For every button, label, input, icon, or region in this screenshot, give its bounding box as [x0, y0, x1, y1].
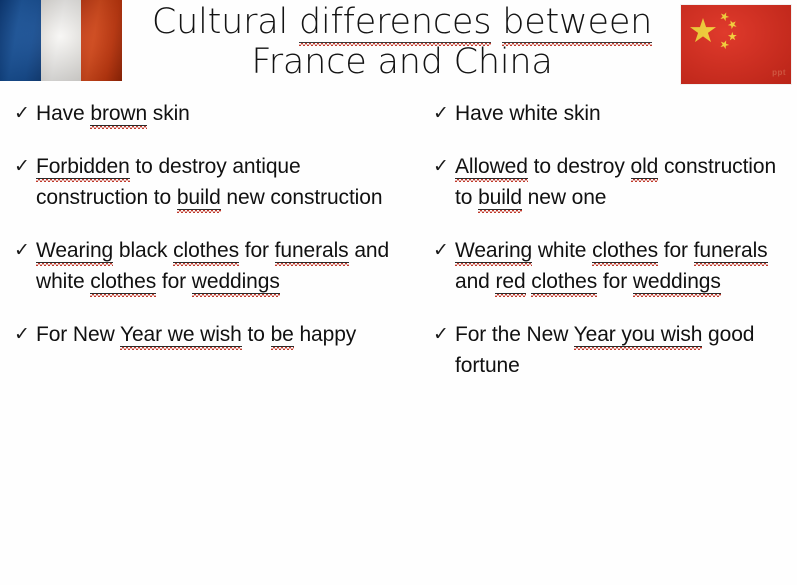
right-bullet-text: Allowed to destroy old construction to b…: [455, 151, 793, 213]
china-flag-watermark: ppt: [772, 68, 786, 77]
bullet-text-segment: and: [455, 270, 495, 293]
checkmark-icon: ✓: [14, 235, 36, 266]
right-bullet-column: ✓Have white skin✓Allowed to destroy old …: [433, 98, 793, 403]
checkmark-icon: ✓: [433, 319, 455, 350]
right-bullet-item: ✓Wearing white clothes for funerals and …: [433, 235, 793, 297]
right-bullet-item: ✓Have white skin: [433, 98, 793, 129]
title-misspelled-between: between: [502, 2, 652, 43]
left-bullet-text: Wearing black clothes for funerals and w…: [36, 235, 409, 297]
left-bullet-item: ✓Forbidden to destroy antique constructi…: [14, 151, 409, 213]
misspelled-word: clothes: [90, 270, 156, 294]
bullet-text-segment: white: [532, 239, 592, 262]
right-bullet-text: For the New Year you wish good fortune: [455, 319, 793, 381]
left-bullet-text: Forbidden to destroy antique constructio…: [36, 151, 409, 213]
misspelled-word: Wearing: [455, 239, 532, 263]
misspelled-word: build: [177, 186, 221, 210]
left-bullet-item: ✓For New Year we wish to be happy: [14, 319, 409, 350]
left-bullet-text: Have brown skin: [36, 98, 409, 129]
china-flag-small-star-1-icon: [719, 11, 731, 23]
bullet-text-segment: For New: [36, 323, 120, 346]
china-flag-large-star-icon: [690, 18, 716, 44]
misspelled-word: Wearing: [36, 239, 113, 263]
misspelled-word: build: [478, 186, 522, 210]
checkmark-icon: ✓: [433, 98, 455, 129]
china-flag-small-star-4-icon: [719, 39, 731, 51]
france-flag-icon: [0, 0, 122, 81]
left-bullet-item: ✓Have brown skin: [14, 98, 409, 129]
title-text-space: [491, 2, 502, 42]
checkmark-icon: ✓: [14, 151, 36, 182]
misspelled-word: clothes: [173, 239, 239, 263]
france-flag-red-band: [81, 0, 122, 81]
china-flag-small-star-2-icon: [726, 18, 739, 31]
left-bullet-column: ✓Have brown skin✓Forbidden to destroy an…: [14, 98, 409, 372]
left-bullet-item: ✓Wearing black clothes for funerals and …: [14, 235, 409, 297]
right-bullet-text: Have white skin: [455, 98, 793, 129]
china-flag-small-star-3-icon: [727, 31, 739, 43]
slide-title-line-2: France and China: [128, 42, 676, 82]
bullet-text-segment: for: [156, 270, 192, 293]
checkmark-icon: ✓: [14, 319, 36, 350]
bullet-text-segment: skin: [147, 102, 190, 125]
bullet-text-segment: for: [597, 270, 633, 293]
bullet-text-segment: new one: [522, 186, 606, 209]
france-flag-blue-band: [0, 0, 41, 81]
left-bullet-text: For New Year we wish to be happy: [36, 319, 409, 350]
bullet-text-segment: new construction: [221, 186, 383, 209]
right-bullet-item: ✓Allowed to destroy old construction to …: [433, 151, 793, 213]
bullet-text-segment: to: [242, 323, 271, 346]
misspelled-word: clothes: [531, 270, 597, 294]
checkmark-icon: ✓: [433, 235, 455, 266]
bullet-text-segment: Have white skin: [455, 102, 601, 125]
bullet-text-segment: to destroy: [528, 155, 631, 178]
bullet-text-segment: For the New: [455, 323, 574, 346]
checkmark-icon: ✓: [433, 151, 455, 182]
misspelled-word: brown: [90, 102, 147, 126]
misspelled-word: Allowed: [455, 155, 528, 179]
title-misspelled-differences: differences: [299, 2, 491, 43]
bullet-text-segment: for: [239, 239, 275, 262]
misspelled-word: weddings: [192, 270, 280, 294]
france-flag-white-band: [41, 0, 81, 81]
bullet-text-segment: for: [658, 239, 694, 262]
slide-canvas: ppt Cultural differences between France …: [0, 0, 797, 585]
bullet-text-segment: Have: [36, 102, 90, 125]
misspelled-word: Forbidden: [36, 155, 130, 179]
title-text-prefix: Cultural: [152, 2, 299, 42]
checkmark-icon: ✓: [14, 98, 36, 129]
misspelled-word: Year you wish: [574, 323, 703, 347]
misspelled-word: funerals: [275, 239, 349, 263]
china-flag-icon: ppt: [681, 5, 791, 84]
misspelled-word: funerals: [694, 239, 768, 263]
misspelled-word: clothes: [592, 239, 658, 263]
bullet-text-segment: black: [113, 239, 173, 262]
slide-title-line-1: Cultural differences between: [128, 2, 676, 42]
misspelled-word: old: [631, 155, 659, 179]
misspelled-word: weddings: [633, 270, 721, 294]
misspelled-word: red: [495, 270, 525, 294]
right-bullet-text: Wearing white clothes for funerals and r…: [455, 235, 793, 297]
misspelled-word: be: [271, 323, 294, 347]
bullet-text-segment: happy: [294, 323, 356, 346]
right-bullet-item: ✓For the New Year you wish good fortune: [433, 319, 793, 381]
slide-title: Cultural differences between France and …: [128, 2, 676, 82]
misspelled-word: Year we wish: [120, 323, 242, 347]
